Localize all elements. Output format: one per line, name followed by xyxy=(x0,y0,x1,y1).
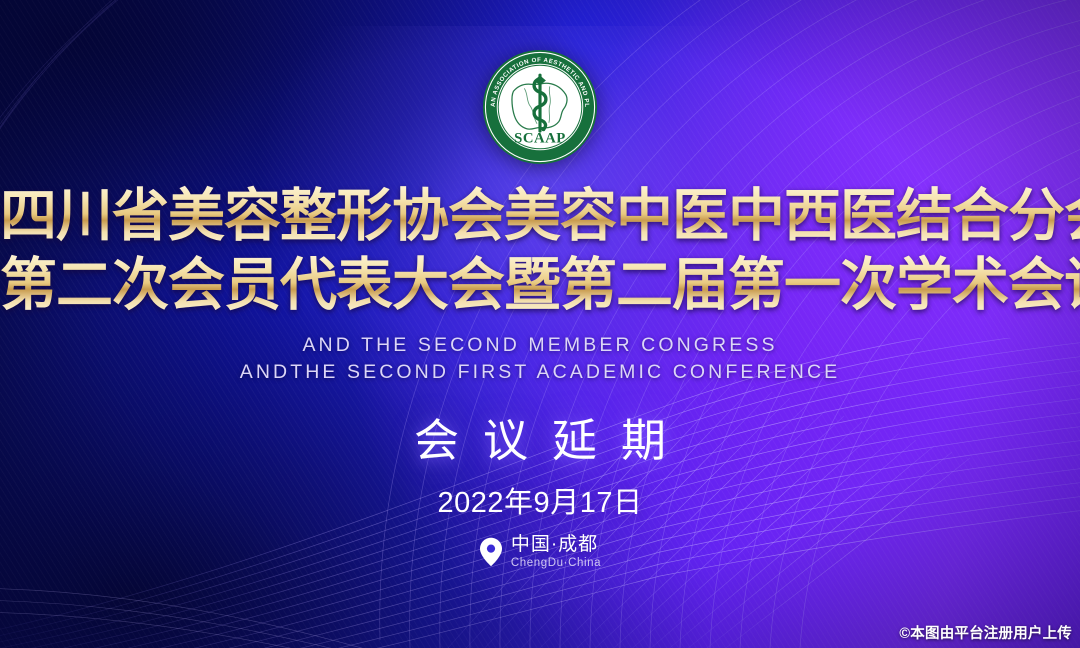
conference-poster: SICHUAN ASSOCIATION OF AESTHETIC AND PLA… xyxy=(0,0,1080,648)
subtitle-line-2: ANDTHE SECOND FIRST ACADEMIC CONFERENCE xyxy=(240,359,841,386)
location-cn: 中国·成都 xyxy=(511,535,601,555)
location-text: 中国·成都 ChengDu·China xyxy=(511,535,601,569)
poster-content: SICHUAN ASSOCIATION OF AESTHETIC AND PLA… xyxy=(0,0,1080,648)
postponement-notice: 会议延期 xyxy=(390,404,690,469)
scaap-association-logo: SICHUAN ASSOCIATION OF AESTHETIC AND PLA… xyxy=(481,48,599,166)
location-en: ChengDu·China xyxy=(511,557,601,569)
event-date: 2022年9月17日 xyxy=(438,479,643,521)
watermark-notice: ©本图由平台注册用户上传 xyxy=(899,622,1072,643)
event-location: 中国·成都 ChengDu·China xyxy=(479,535,601,569)
subtitle-line-1: AND THE SECOND MEMBER CONGRESS xyxy=(240,332,841,359)
main-title: 四川省美容整形协会美容中医中西医结合分会 第二次会员代表大会暨第二届第一次学术会… xyxy=(0,184,1080,318)
logo-acronym: SCAAP xyxy=(514,130,566,146)
map-pin-icon xyxy=(479,537,503,567)
title-line-1: 四川省美容整形协会美容中医中西医结合分会 xyxy=(0,184,1080,249)
english-subtitle: AND THE SECOND MEMBER CONGRESS ANDTHE SE… xyxy=(240,332,841,386)
title-line-2: 第二次会员代表大会暨第二届第一次学术会议 xyxy=(0,253,1080,318)
